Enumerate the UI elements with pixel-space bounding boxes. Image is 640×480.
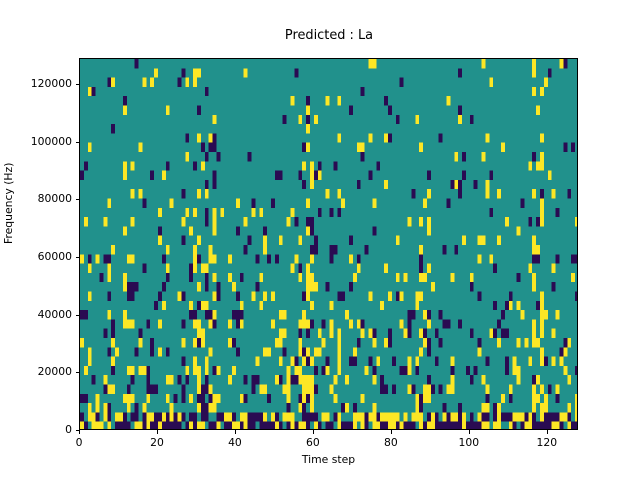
y-tick-label: 0	[0, 423, 72, 436]
x-axis-label: Time step	[79, 453, 578, 466]
y-tick-label: 20000	[0, 365, 72, 378]
matplotlib-figure: Predicted : La Time step Frequency (Hz) …	[0, 0, 640, 480]
x-tick-mark	[79, 430, 80, 434]
x-tick-label: 60	[283, 436, 343, 449]
x-tick-mark	[547, 430, 548, 434]
x-tick-mark	[235, 430, 236, 434]
y-tick-label: 60000	[0, 250, 72, 263]
heatmap-axes[interactable]	[79, 58, 578, 430]
y-tick-mark	[76, 142, 80, 143]
x-tick-mark	[313, 430, 314, 434]
y-tick-mark	[76, 84, 80, 85]
x-tick-label: 40	[205, 436, 265, 449]
x-tick-mark	[157, 430, 158, 434]
y-tick-label: 80000	[0, 192, 72, 205]
x-tick-label: 80	[361, 436, 421, 449]
page-title: Predicted : La	[79, 28, 579, 44]
x-tick-mark	[469, 430, 470, 434]
y-tick-mark	[76, 199, 80, 200]
heatmap-image	[80, 59, 578, 430]
y-tick-label: 120000	[0, 77, 72, 90]
x-tick-mark	[391, 430, 392, 434]
y-tick-label: 40000	[0, 308, 72, 321]
y-tick-mark	[76, 257, 80, 258]
y-tick-mark	[76, 315, 80, 316]
y-tick-label: 100000	[0, 135, 72, 148]
y-tick-mark	[76, 372, 80, 373]
x-tick-label: 120	[517, 436, 577, 449]
y-tick-mark	[76, 430, 80, 431]
x-tick-label: 0	[49, 436, 109, 449]
x-tick-label: 20	[127, 436, 187, 449]
x-tick-label: 100	[439, 436, 499, 449]
